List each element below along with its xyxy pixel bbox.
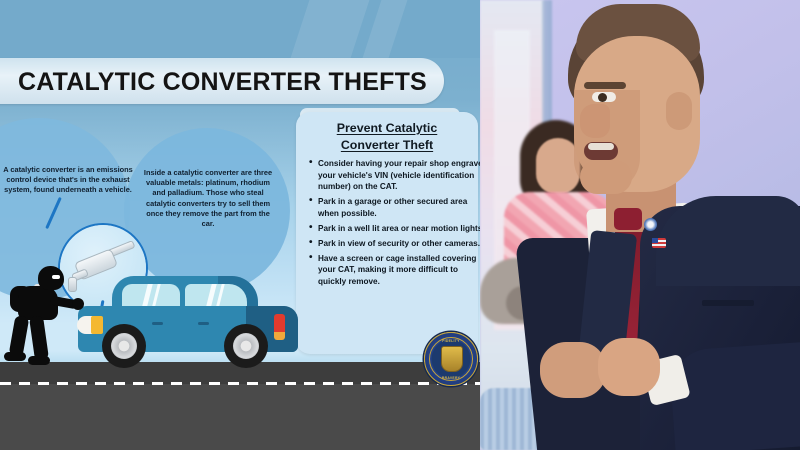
list-item: Have a screen or cage installed covering…	[318, 253, 480, 288]
man-shoulder	[656, 196, 800, 286]
man-pupil	[598, 93, 607, 102]
list-item: Consider having your repair shop engrave…	[318, 158, 480, 193]
bubble-text-definition: A catalytic converter is an emissions co…	[2, 165, 134, 196]
man-teeth	[588, 143, 614, 150]
thief-fist	[72, 298, 84, 310]
list-item: Park in a well lit area or near motion l…	[318, 223, 480, 235]
man-breast-pocket	[702, 300, 754, 306]
man-eyebrow	[584, 82, 626, 89]
thief-eye-slit	[52, 275, 60, 279]
header-band	[0, 0, 480, 58]
page-title: CATALYTIC CONVERTER THEFTS	[18, 66, 448, 98]
thief-shoe	[28, 356, 50, 365]
man-chin	[580, 160, 632, 194]
man-left-hand	[540, 342, 606, 398]
man-tie-knot	[614, 208, 642, 230]
car-headlight-amber	[91, 316, 103, 334]
prevention-panel: Prevent Catalytic Converter Theft Consid…	[296, 112, 478, 354]
fbi-seal-icon: FIDELITY BRAVERY	[424, 332, 478, 386]
wheel-rim	[233, 333, 259, 359]
thief-shoe	[4, 352, 26, 361]
prevention-tips-list: Consider having your repair shop engrave…	[304, 158, 480, 291]
road-dashed-line	[0, 382, 480, 385]
prevention-title-line1: Prevent Catalytic	[337, 121, 438, 135]
seal-motto-top: FIDELITY	[425, 339, 477, 343]
thief-illustration	[2, 262, 88, 366]
press-conference-photo	[480, 0, 800, 450]
man-right-hand	[598, 338, 660, 396]
car-front-wheel	[102, 324, 146, 368]
car-door-handle	[152, 322, 163, 325]
car-door-handle	[198, 322, 209, 325]
bubble-text-metals: Inside a catalytic converter are three v…	[140, 168, 276, 229]
car-illustration	[78, 270, 298, 368]
prevention-panel-title: Prevent Catalytic Converter Theft	[306, 120, 468, 154]
car-taillight-amber	[274, 332, 285, 340]
thief-leg	[9, 315, 30, 357]
seal-shield	[441, 346, 463, 372]
prevention-title-line2: Converter Theft	[341, 138, 433, 152]
thief-masked-head	[38, 266, 64, 290]
list-item: Park in a garage or other secured area w…	[318, 196, 480, 219]
thief-leg	[29, 315, 49, 361]
catalytic-converter-infographic: CATALYTIC CONVERTER THEFTS A catalytic c…	[0, 0, 480, 450]
man-badge-pin	[644, 218, 657, 231]
car-rear-wheel	[224, 324, 268, 368]
wheel-rim	[111, 333, 137, 359]
seal-motto-bottom: BRAVERY	[425, 376, 477, 380]
man-nose	[580, 104, 610, 138]
flag-pin-canton	[652, 238, 658, 243]
screenshot-stage: CATALYTIC CONVERTER THEFTS A catalytic c…	[0, 0, 800, 450]
man-ear	[666, 92, 692, 130]
list-item: Park in view of security or other camera…	[318, 238, 480, 250]
